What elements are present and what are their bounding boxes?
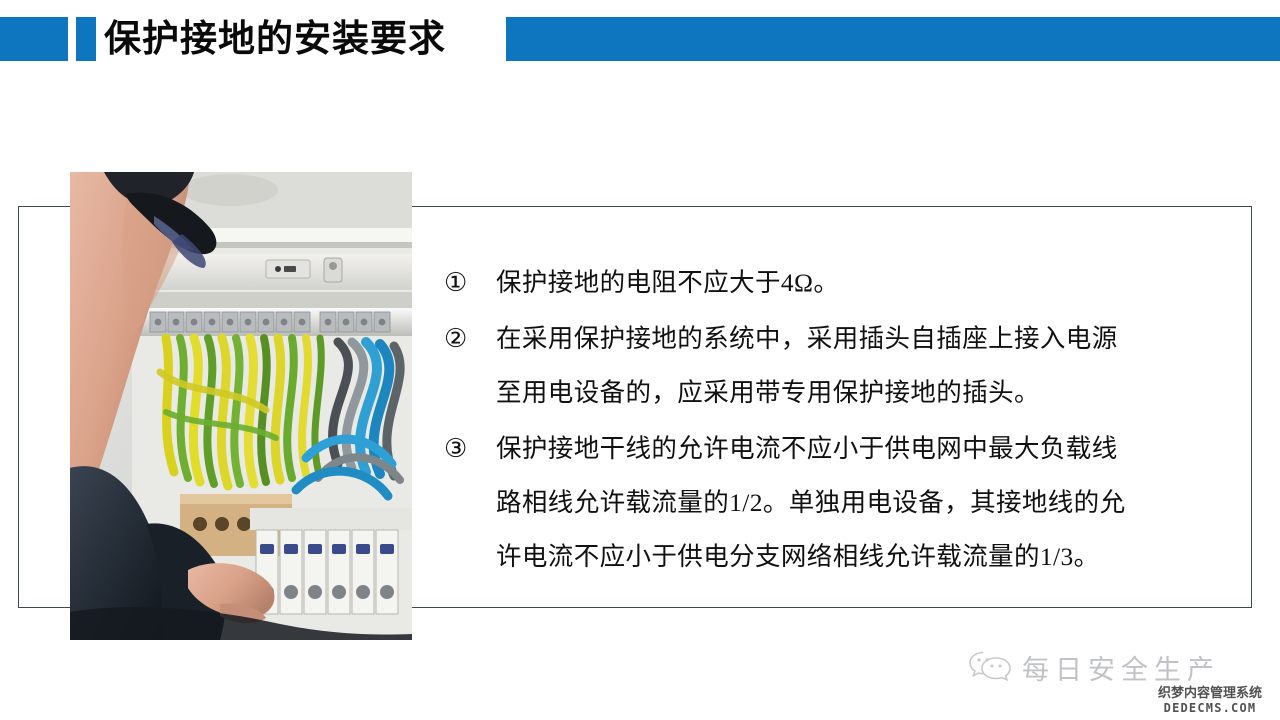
- slide-root: 保护接地的安装要求: [0, 0, 1280, 720]
- photo-illustration: [70, 172, 412, 640]
- dedecms-watermark: 织梦内容管理系统 DEDECMS.COM: [1143, 686, 1277, 715]
- electrical-panel-photo: [70, 172, 412, 640]
- list-item-line: 在采用保护接地的系统中，采用插头自插座上接入电源: [496, 312, 1234, 366]
- list-item: ③ 保护接地干线的允许电流不应小于供电网中最大负载线 路相线允许载流量的1/2。…: [444, 422, 1234, 584]
- dedecms-watermark-cn: 织梦内容管理系统: [1143, 686, 1277, 701]
- list-item-body: 保护接地的电阻不应大于4Ω。: [496, 256, 1234, 310]
- slide-header: 保护接地的安装要求: [0, 0, 1280, 78]
- requirements-list: ① 保护接地的电阻不应大于4Ω。 ② 在采用保护接地的系统中，采用插头自插座上接…: [444, 256, 1234, 586]
- list-marker: ②: [444, 312, 496, 366]
- list-marker: ①: [444, 256, 496, 310]
- wechat-icon: [968, 648, 1012, 687]
- header-accent-bar: [76, 17, 96, 61]
- brand-name: 每日安全生产: [1022, 648, 1220, 687]
- brand-watermark: 每日安全生产: [968, 644, 1258, 690]
- list-item-line: 许电流不应小于供电分支网络相线允许载流量的1/3。: [496, 530, 1234, 584]
- list-marker: ③: [444, 422, 496, 476]
- header-accent-block-right: [506, 17, 1280, 61]
- list-item-line: 路相线允许载流量的1/2。单独用电设备，其接地线的允: [496, 476, 1234, 530]
- list-item-line: 保护接地干线的允许电流不应小于供电网中最大负载线: [496, 422, 1234, 476]
- dedecms-watermark-en: DEDECMS.COM: [1143, 701, 1277, 715]
- list-item-body: 保护接地干线的允许电流不应小于供电网中最大负载线 路相线允许载流量的1/2。单独…: [496, 422, 1234, 584]
- header-accent-block-left: [0, 17, 68, 61]
- list-item-line: 保护接地的电阻不应大于4Ω。: [496, 256, 1234, 310]
- list-item-body: 在采用保护接地的系统中，采用插头自插座上接入电源 至用电设备的，应采用带专用保护…: [496, 312, 1234, 420]
- list-item: ② 在采用保护接地的系统中，采用插头自插座上接入电源 至用电设备的，应采用带专用…: [444, 312, 1234, 420]
- page-title: 保护接地的安装要求: [104, 10, 446, 68]
- list-item: ① 保护接地的电阻不应大于4Ω。: [444, 256, 1234, 310]
- list-item-line: 至用电设备的，应采用带专用保护接地的插头。: [496, 366, 1234, 420]
